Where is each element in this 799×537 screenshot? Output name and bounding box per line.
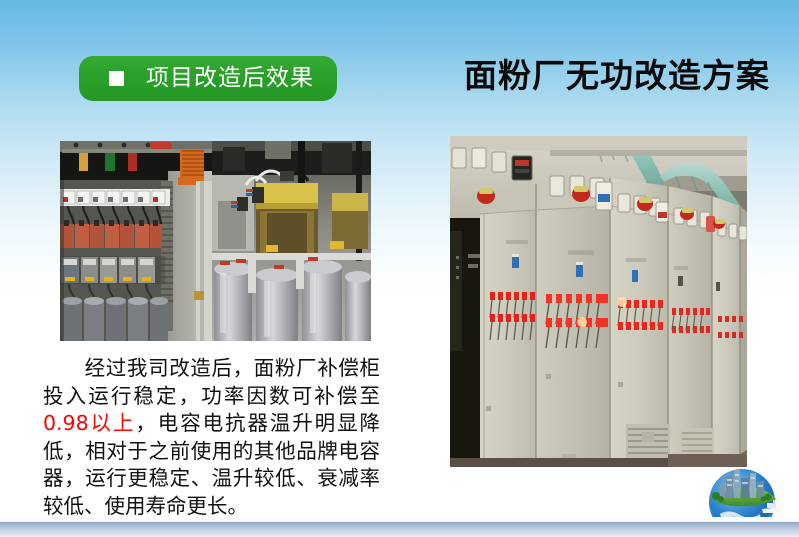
square-bullet-icon bbox=[109, 71, 124, 86]
body-paragraph: 经过我司改造后，面粉厂补偿柜投入运行稳定，功率因数可补偿至0.98以上，电容电抗… bbox=[43, 355, 380, 520]
slide-title: 面粉厂无功改造方案 bbox=[464, 54, 754, 98]
switchgear-lineup-photo bbox=[450, 136, 747, 467]
left-photo-artwork bbox=[60, 141, 371, 341]
body-text-part-1: 经过我司改造后，面粉厂补偿柜投入运行稳定，功率因数可补偿至 bbox=[43, 356, 380, 408]
slide-canvas: 项目改造后效果 面粉厂无功改造方案 bbox=[0, 0, 799, 537]
section-badge[interactable]: 项目改造后效果 bbox=[79, 56, 337, 101]
footer-band bbox=[0, 522, 799, 537]
body-text-highlight: 0.98以上 bbox=[43, 411, 135, 435]
compensation-cabinet-interior-photo bbox=[60, 141, 371, 341]
section-badge-label: 项目改造后效果 bbox=[146, 67, 314, 90]
right-photo-artwork bbox=[450, 136, 747, 467]
